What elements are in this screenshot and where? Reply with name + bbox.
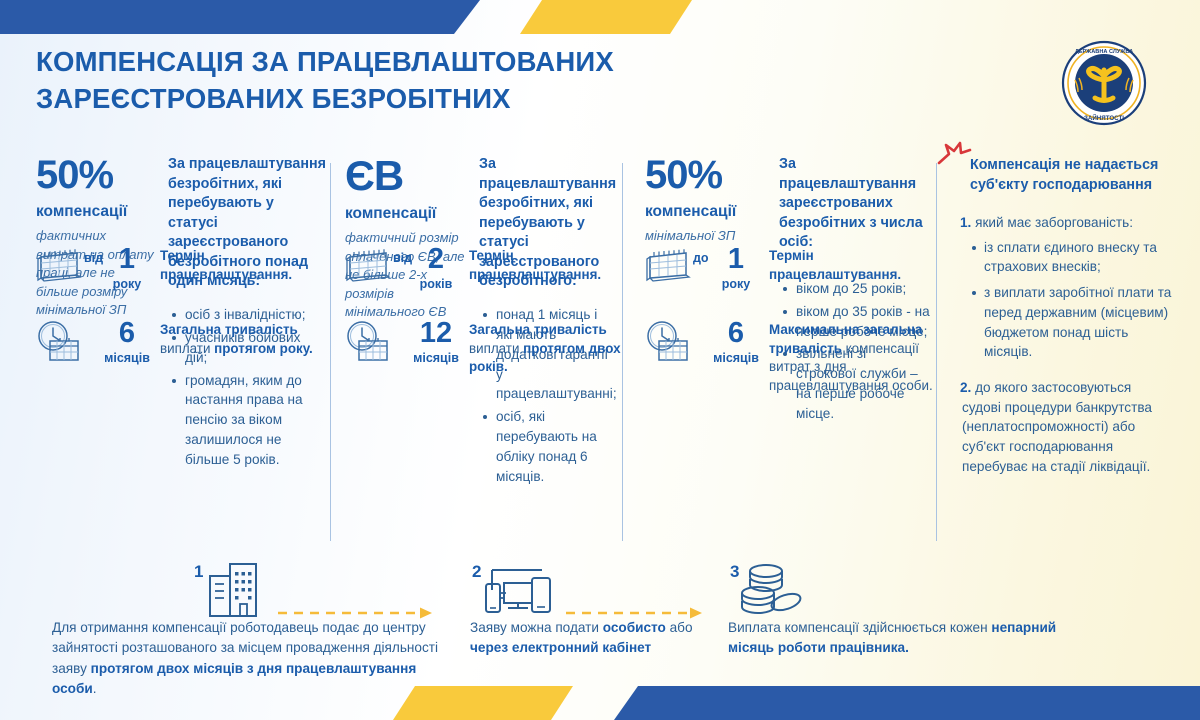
metric-unit: року bbox=[699, 277, 761, 291]
metric-prefix: від bbox=[84, 251, 103, 265]
metrics-column-1: від 1 року Термін працевлаштування. bbox=[36, 245, 331, 393]
metric-prefix: до bbox=[693, 251, 709, 265]
metric-row-term-1: від 1 року Термін працевлаштування. bbox=[36, 245, 331, 291]
metric-prefix: від bbox=[393, 251, 412, 265]
metric-number-block-6: 6 місяців bbox=[699, 319, 761, 365]
metric-number-block-5: до 1 року bbox=[699, 245, 761, 291]
metric-unit: року bbox=[90, 277, 152, 291]
metrics-column-3: до 1 року Термін працевлаштування. bbox=[645, 245, 940, 423]
warning-item-1: 1. який має заборгованість: із сплати єд… bbox=[950, 213, 1172, 362]
metric-text-1: Термін працевлаштування. bbox=[160, 245, 331, 284]
logo-text-bottom: ЗАЙНЯТОСТІ bbox=[1084, 114, 1124, 122]
process-step-1: 1 Для отримання компенсації роботодавець… bbox=[52, 560, 452, 700]
description-title-3: За працевлаштування зареєстрованих безро… bbox=[779, 155, 930, 253]
calendar-icon bbox=[36, 245, 82, 285]
dashed-arrow-right-icon bbox=[566, 606, 708, 620]
clock-calendar-icon bbox=[36, 319, 82, 359]
warning-item-2-text: до якого застосовуються судові процедури… bbox=[962, 380, 1152, 474]
metric-unit: місяців bbox=[699, 351, 761, 365]
step-index-2: 2 bbox=[472, 562, 481, 581]
warning-item-2-lead: 2. до якого застосовуються судові процед… bbox=[950, 378, 1172, 477]
metric-row-term-2: від 2 років Термін працевлаштування. bbox=[345, 245, 625, 291]
metric-text-bold: Термін працевлаштування. bbox=[160, 248, 292, 282]
metric-text-bold: Термін працевлаштування. bbox=[469, 248, 601, 282]
metric-text-2: Загальна тривалість виплати протягом рок… bbox=[160, 319, 331, 358]
metric-number-block-3: від 2 років bbox=[399, 245, 461, 291]
metric-text-plain: виплати bbox=[469, 341, 523, 356]
clock-calendar-icon bbox=[645, 319, 691, 359]
step-text-plain: Заяву можна подати bbox=[470, 620, 603, 635]
warning-title: Компенсація не надається суб'єкту господ… bbox=[950, 155, 1172, 195]
metric-number: 12 bbox=[399, 319, 461, 348]
warning-column: Компенсація не надається суб'єкту господ… bbox=[950, 155, 1172, 492]
metric-text-bold: Загальна тривалість bbox=[160, 322, 298, 337]
metric-number-block-4: 12 місяців bbox=[399, 319, 461, 365]
step-text-bold2: через електронний кабінет bbox=[470, 640, 651, 655]
step-index-3: 3 bbox=[730, 562, 739, 581]
metrics-column-2: від 2 років Термін працевлаштування. bbox=[345, 245, 625, 405]
page-title-line-2: ЗАРЕЄСТРОВАНИХ БЕЗРОБІТНИХ bbox=[36, 81, 756, 118]
metric-unit: років bbox=[399, 277, 461, 291]
logo-text-top: ДЕРЖАВНА СЛУЖБА bbox=[1075, 49, 1133, 55]
metric-row-duration-3: 6 місяців Максимальна загальна триваліст… bbox=[645, 319, 940, 395]
infographic-page: КОМПЕНСАЦІЯ ЗА ПРАЦЕВЛАШТОВАНИХ ЗАРЕЄСТР… bbox=[0, 0, 1200, 720]
metric-text-4: Загальна тривалість виплати протягом дво… bbox=[469, 319, 625, 377]
calendar-icon bbox=[645, 245, 691, 285]
metric-text-bold: Загальна тривалість bbox=[469, 322, 607, 337]
state-employment-service-logo: ДЕРЖАВНА СЛУЖБА ЗАЙНЯТОСТІ bbox=[1061, 40, 1147, 126]
dashed-arrow-right-icon bbox=[278, 606, 438, 620]
clock-calendar-icon bbox=[345, 319, 391, 359]
top-blue-band bbox=[0, 0, 480, 34]
metric-number-block-2: 6 місяців bbox=[90, 319, 152, 365]
list-item: із сплати єдиного внеску та страхових вн… bbox=[984, 238, 1172, 277]
amount-value-2: ЄВ bbox=[345, 155, 465, 197]
amount-note-3: мінімальної ЗП bbox=[645, 227, 765, 245]
process-step-1-text: Для отримання компенсації роботодавець п… bbox=[52, 618, 452, 700]
step-text-bold: особисто bbox=[603, 620, 666, 635]
process-steps: 1 Для отримання компенсації роботодавець… bbox=[0, 560, 1200, 688]
metric-text-plain: виплати bbox=[160, 341, 214, 356]
amount-subtitle-1: компенсації bbox=[36, 202, 154, 221]
metric-row-duration-1: 6 місяців Загальна тривалість виплати пр… bbox=[36, 319, 331, 365]
top-yellow-band bbox=[520, 0, 692, 34]
step-text-plain-mid: або bbox=[666, 620, 693, 635]
metric-text-3: Термін працевлаштування. bbox=[469, 245, 625, 284]
metric-text-bold: Термін працевлаштування. bbox=[769, 248, 901, 282]
list-item: з виплати заробітної плати та перед держ… bbox=[984, 283, 1172, 362]
coins-stack-icon: 3 bbox=[728, 560, 1068, 618]
metric-text-5: Термін працевлаштування. bbox=[769, 245, 940, 284]
metric-number: 6 bbox=[90, 319, 152, 348]
metric-number: 6 bbox=[699, 319, 761, 348]
metric-text-bold2: протягом року. bbox=[214, 341, 313, 356]
calendar-icon bbox=[345, 245, 391, 285]
metric-number-block-1: від 1 року bbox=[90, 245, 152, 291]
warning-item-1-number: 1. bbox=[960, 215, 971, 230]
warning-item-2: 2. до якого застосовуються судові процед… bbox=[950, 378, 1172, 477]
metric-text-6: Максимальна загальна тривалість компенса… bbox=[769, 319, 940, 395]
amount-subtitle-3: компенсації bbox=[645, 202, 765, 221]
metric-row-term-3: до 1 року Термін працевлаштування. bbox=[645, 245, 940, 291]
metric-unit: місяців bbox=[90, 351, 152, 365]
red-zigzag-icon bbox=[936, 141, 976, 171]
warning-item-1-bullets: із сплати єдиного внеску та страхових вн… bbox=[950, 238, 1172, 362]
warning-item-1-text: який має заборгованість: bbox=[975, 215, 1133, 230]
warning-list: 1. який має заборгованість: із сплати єд… bbox=[950, 213, 1172, 476]
amount-value-1: 50% bbox=[36, 155, 154, 195]
process-step-3-text: Виплата компенсації здійснюється кожен н… bbox=[728, 618, 1068, 659]
page-title-line-1: КОМПЕНСАЦІЯ ЗА ПРАЦЕВЛАШТОВАНИХ bbox=[36, 46, 614, 77]
list-item: осіб, які перебувають на обліку понад 6 … bbox=[494, 407, 617, 486]
step-text-plain-end: . bbox=[93, 681, 97, 696]
process-step-3: 3 Виплата компенсації здійснюється кожен… bbox=[728, 560, 1068, 659]
warning-item-2-number: 2. bbox=[960, 380, 971, 395]
bottom-blue-band bbox=[614, 686, 1200, 720]
step-text-bold: протягом двох місяців з дня працевлаштув… bbox=[52, 661, 416, 696]
amount-value-3: 50% bbox=[645, 155, 765, 195]
metric-row-duration-2: 12 місяців Загальна тривалість виплати п… bbox=[345, 319, 625, 377]
page-title: КОМПЕНСАЦІЯ ЗА ПРАЦЕВЛАШТОВАНИХ ЗАРЕЄСТР… bbox=[36, 44, 756, 118]
metric-unit: місяців bbox=[399, 351, 461, 365]
step-text-plain: Виплата компенсації здійснюється кожен bbox=[728, 620, 991, 635]
step-index-1: 1 bbox=[194, 562, 203, 581]
process-step-2-text: Заяву можна подати особисто або через ел… bbox=[470, 618, 720, 659]
warning-item-1-lead: 1. який має заборгованість: bbox=[950, 213, 1172, 233]
amount-subtitle-2: компенсації bbox=[345, 204, 465, 223]
